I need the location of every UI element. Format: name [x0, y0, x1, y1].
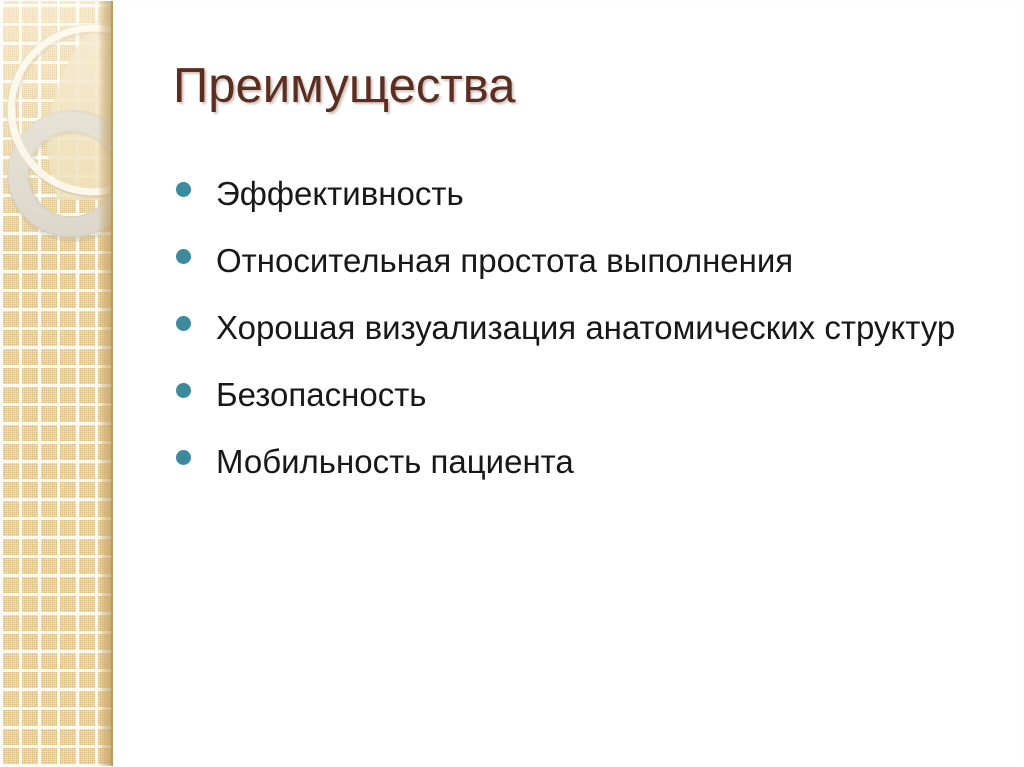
list-item: Мобильность пациента — [176, 436, 1006, 487]
presentation-slide: Преимущества Эффективность Относительная… — [0, 0, 1024, 767]
sidebar-light-wash — [0, 0, 113, 250]
decorative-sidebar — [0, 0, 113, 767]
list-item: Эффективность — [176, 168, 1006, 219]
bullet-dot-icon — [176, 249, 191, 264]
list-item-label: Относительная простота выполнения — [216, 235, 1006, 286]
bullet-dot-icon — [176, 450, 191, 465]
slide-title: Преимущества — [173, 56, 933, 116]
list-item-label: Эффективность — [216, 168, 1006, 219]
list-item: Относительная простота выполнения — [176, 235, 1006, 286]
list-item: Безопасность — [176, 369, 1006, 420]
bullet-dot-icon — [176, 182, 191, 197]
sidebar-edge-line — [111, 0, 113, 767]
bullet-dot-icon — [176, 316, 191, 331]
list-item-label: Хорошая визуализация анатомических струк… — [216, 302, 1006, 353]
list-item-label: Безопасность — [216, 369, 1006, 420]
bullet-list: Эффективность Относительная простота вып… — [176, 168, 1006, 503]
bullet-dot-icon — [176, 383, 191, 398]
list-item-label: Мобильность пациента — [216, 436, 1006, 487]
list-item: Хорошая визуализация анатомических струк… — [176, 302, 1006, 353]
